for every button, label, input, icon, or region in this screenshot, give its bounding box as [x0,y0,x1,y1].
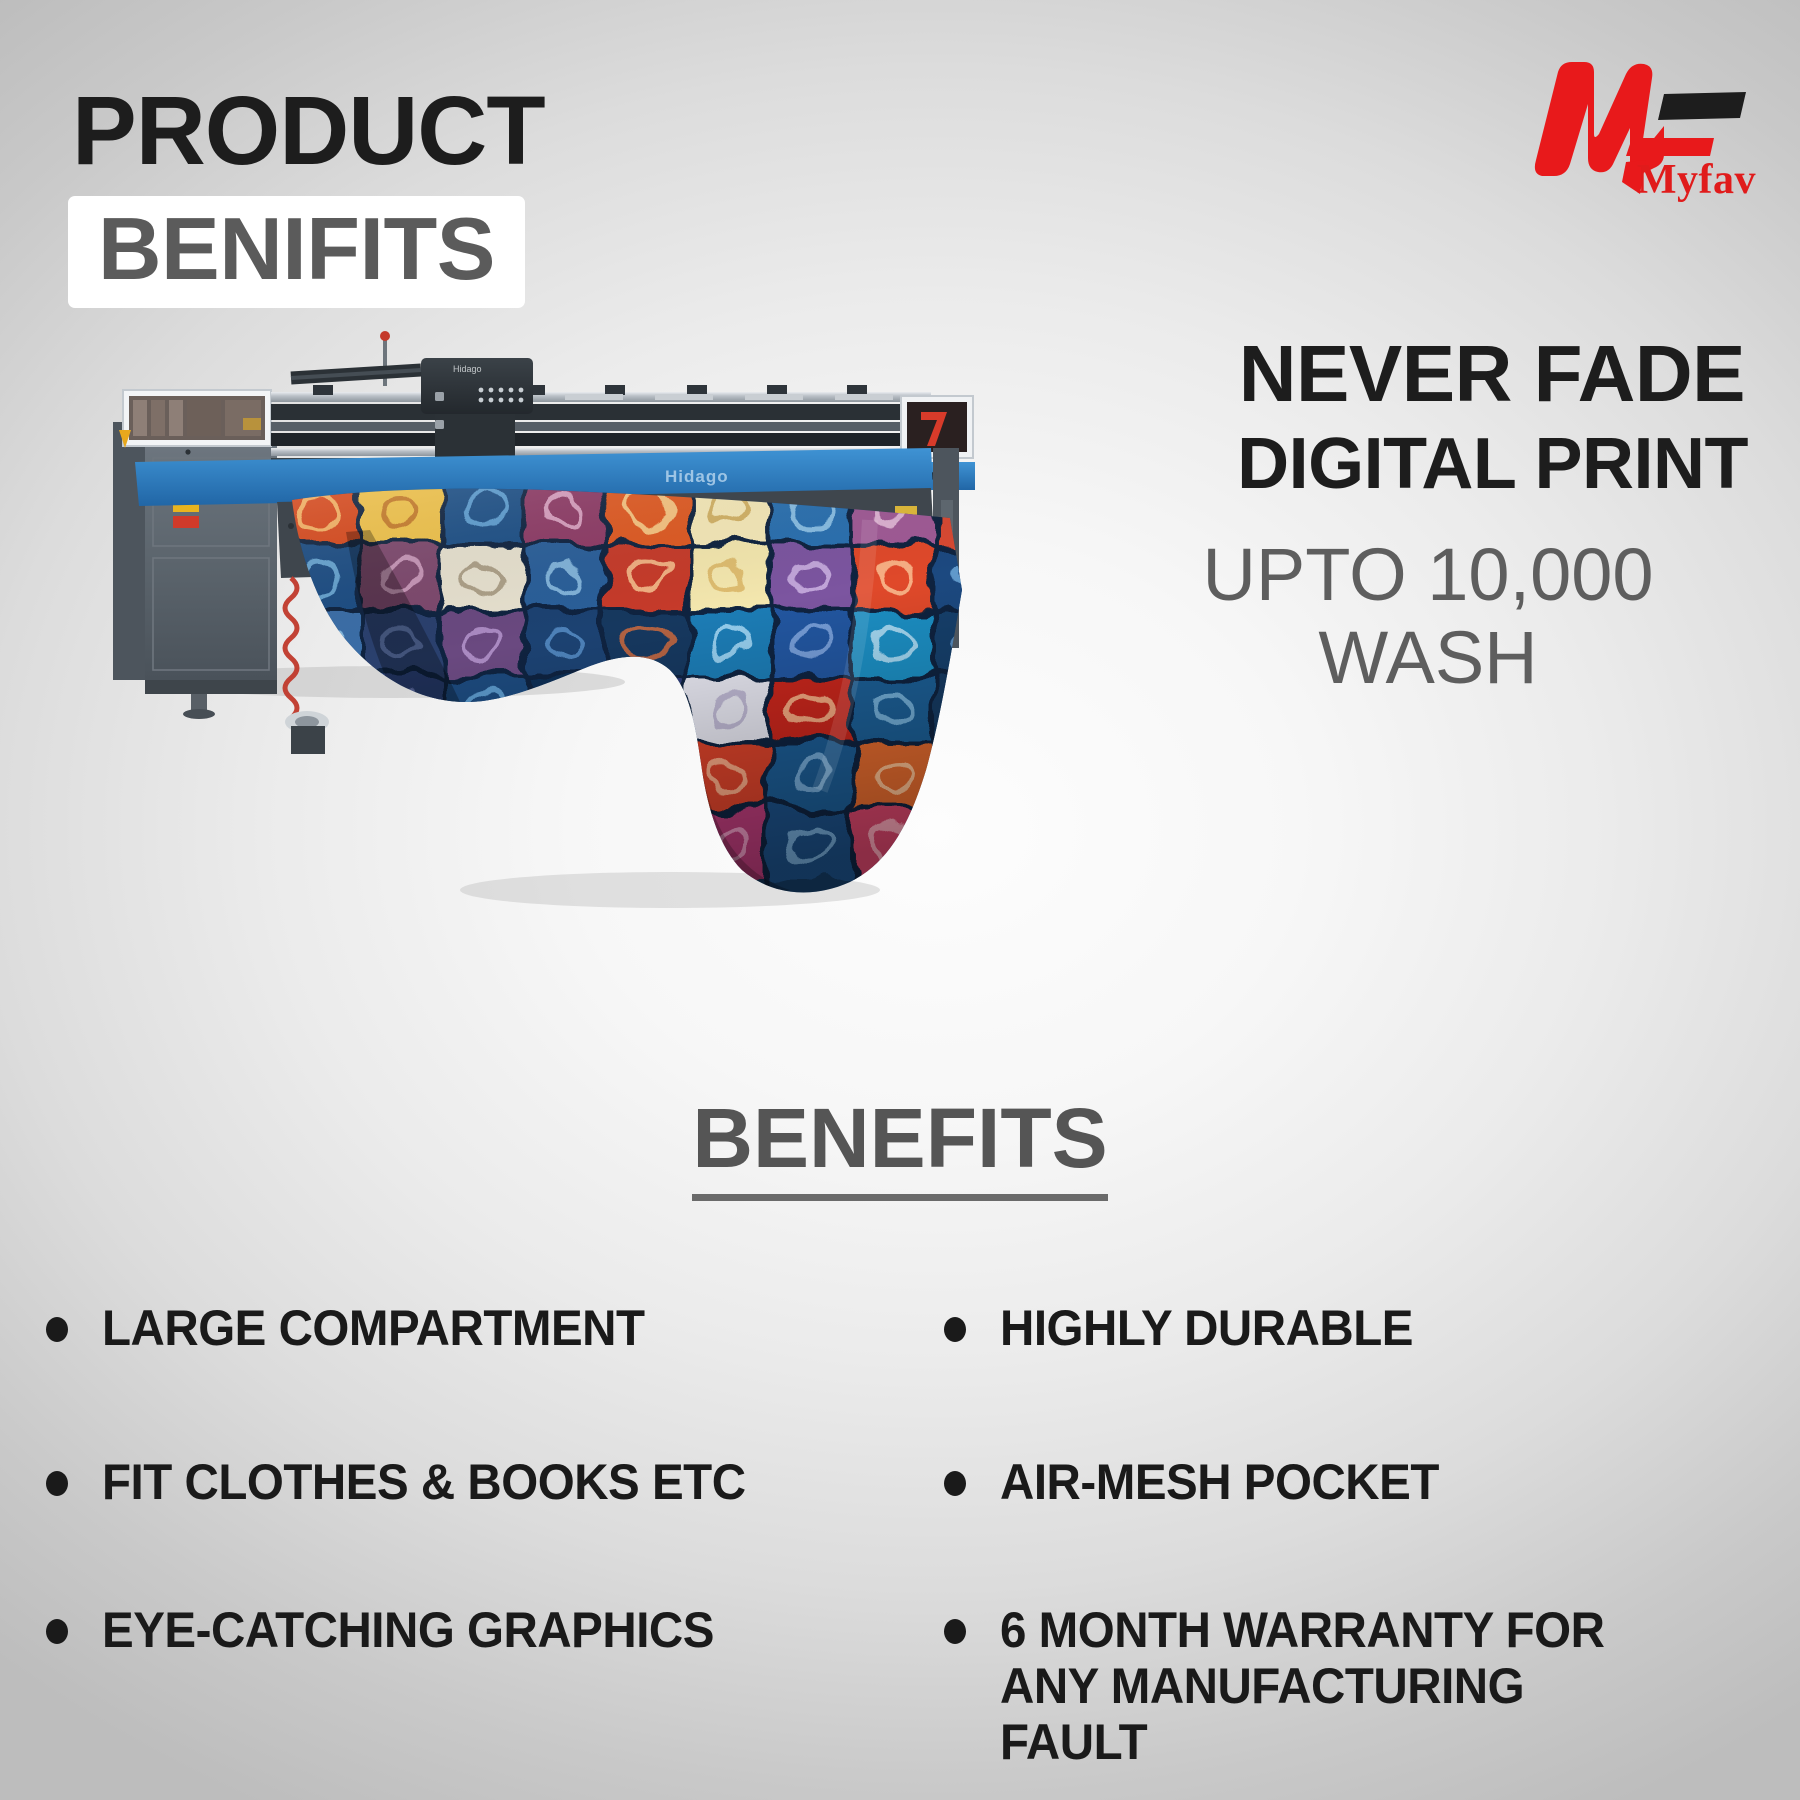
list-item: AIR-MESH POCKET [944,1454,1744,1510]
bullet-dot-icon [944,1471,966,1496]
bullet-dot-icon [46,1317,68,1342]
page-kicker: PRODUCT [72,82,545,179]
benefits-column-left: LARGE COMPARTMENT FIT CLOTHES & BOOKS ET… [46,1300,846,1748]
bullet-dot-icon [944,1317,966,1342]
list-item: 6 MONTH WARRANTY FOR ANY MANUFACTURING F… [944,1602,1744,1770]
list-item: FIT CLOTHES & BOOKS ETC [46,1454,846,1510]
page-title: BENIFITS [98,204,495,294]
list-item: EYE-CATCHING GRAPHICS [46,1602,846,1658]
benefits-heading-text: BENEFITS [692,1096,1107,1201]
list-item-label: HIGHLY DURABLE [1000,1300,1413,1356]
headline-digital-print: DIGITAL PRINT [1237,428,1748,500]
headline-never-fade: NEVER FADE [1239,334,1745,414]
logo-wordmark: Myfav [1637,156,1756,204]
svg-text:Hidago: Hidago [453,364,482,374]
fabric-image [250,470,1080,910]
list-item: HIGHLY DURABLE [944,1300,1744,1356]
printed-fabric-illustration [250,470,1080,910]
benefits-column-right: HIGHLY DURABLE AIR-MESH POCKET 6 MONTH W… [944,1300,1744,1800]
headline-upto-wash: UPTO 10,000 WASH [1118,534,1738,700]
benifits-title-box: BENIFITS [68,196,525,308]
promotional-poster: PRODUCT BENIFITS Myfav [0,0,1800,1800]
bullet-dot-icon [46,1471,68,1496]
list-item-label: FIT CLOTHES & BOOKS ETC [102,1454,746,1510]
list-item-label: LARGE COMPARTMENT [102,1300,645,1356]
list-item-label: 6 MONTH WARRANTY FOR ANY MANUFACTURING F… [1000,1602,1604,1770]
bullet-dot-icon [944,1619,966,1644]
list-item: LARGE COMPARTMENT [46,1300,846,1356]
bullet-dot-icon [46,1619,68,1644]
list-item-label: AIR-MESH POCKET [1000,1454,1439,1510]
dash-icon [1658,92,1746,120]
benefits-section-heading: BENEFITS [0,1096,1800,1201]
list-item-label: EYE-CATCHING GRAPHICS [102,1602,714,1658]
brand-logo: Myfav [1514,42,1764,202]
